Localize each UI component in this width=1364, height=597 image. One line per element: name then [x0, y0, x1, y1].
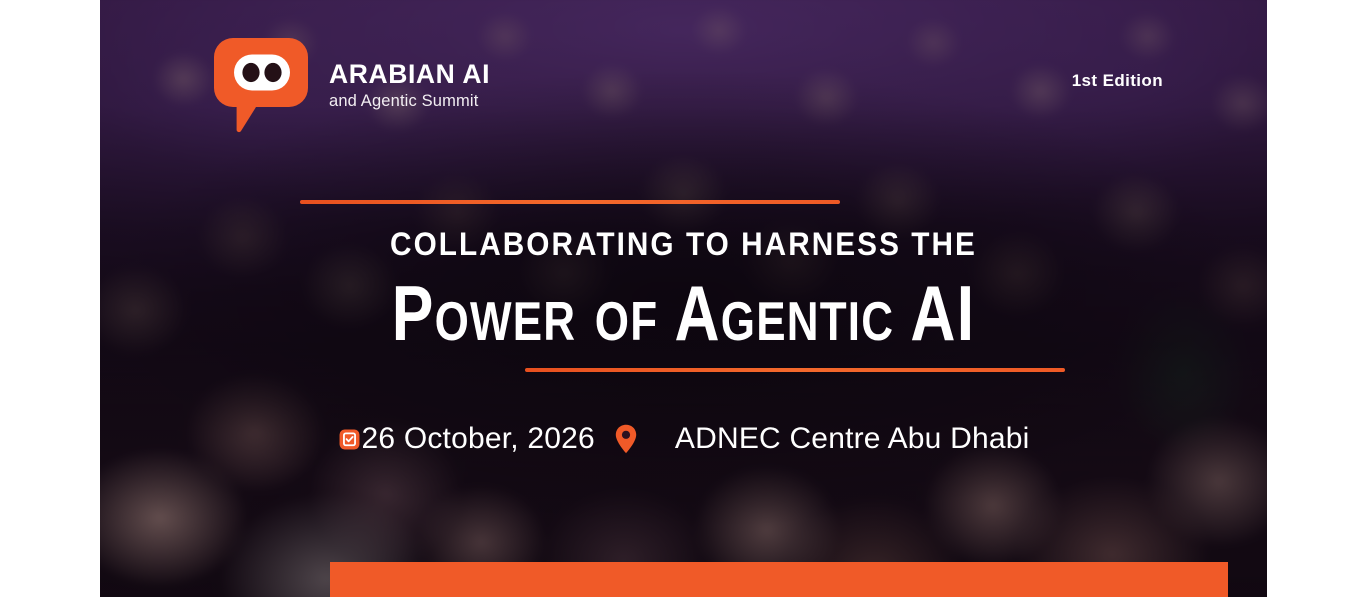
- event-location-text: ADNEC Centre Abu Dhabi: [675, 424, 1030, 454]
- banner-content: ARABIAN AI and Agentic Summit 1st Editio…: [100, 0, 1267, 597]
- map-pin-icon: [615, 424, 637, 454]
- event-date-item: 26 October, 2026: [338, 424, 595, 454]
- hero-title: Power of Agentic AI: [217, 274, 1151, 352]
- brand-logo-lockup[interactable]: ARABIAN AI and Agentic Summit: [213, 36, 490, 134]
- brand-subtitle: and Agentic Summit: [329, 89, 490, 114]
- hero-headline-block: COLLABORATING TO HARNESS THE Power of Ag…: [100, 200, 1267, 372]
- brand-title: ARABIAN AI: [329, 60, 490, 89]
- edition-badge: 1st Edition: [1072, 71, 1163, 91]
- event-location-item: ADNEC Centre Abu Dhabi: [595, 424, 1030, 454]
- event-date-text: 26 October, 2026: [362, 424, 595, 454]
- event-hero-banner: ARABIAN AI and Agentic Summit 1st Editio…: [100, 0, 1267, 597]
- brand-text: ARABIAN AI and Agentic Summit: [329, 56, 490, 113]
- banner-page: ARABIAN AI and Agentic Summit 1st Editio…: [0, 0, 1364, 597]
- event-meta-row: 26 October, 2026 ADNEC Centre Abu Dhabi: [100, 424, 1267, 454]
- chat-bubble-robot-icon: [213, 36, 309, 134]
- footer-accent-bar: [330, 562, 1228, 597]
- calendar-check-icon: [338, 428, 361, 451]
- headline-divider-top: [300, 200, 840, 204]
- hero-kicker: COLLABORATING TO HARNESS THE: [141, 228, 1226, 260]
- headline-divider-bottom: [525, 368, 1065, 372]
